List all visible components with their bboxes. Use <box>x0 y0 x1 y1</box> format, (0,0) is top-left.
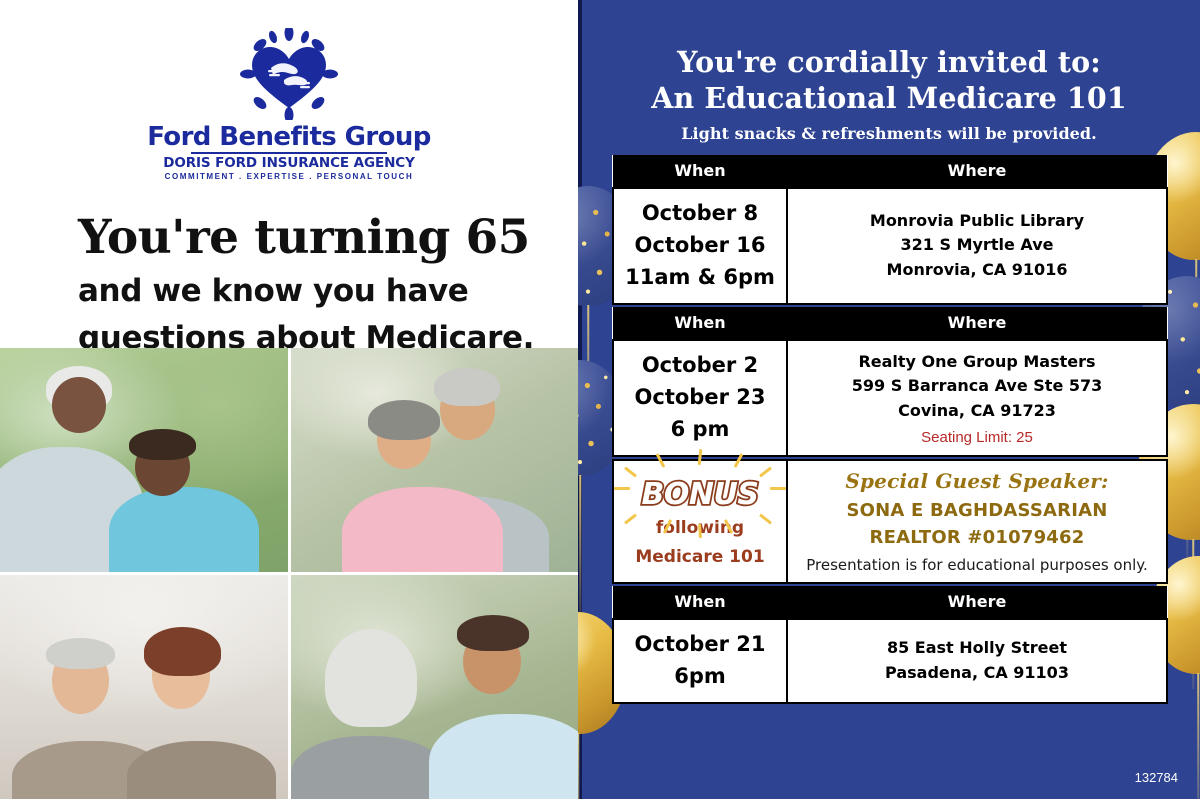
photo-mature-couple-3 <box>0 575 288 799</box>
table-header-row: When Where <box>613 586 1167 619</box>
bonus-block: BONUS following Medicare 101 Special Gue… <box>612 459 1168 584</box>
speaker-label: Special Guest Speaker: <box>794 469 1160 493</box>
bonus-label: BONUS <box>642 477 759 512</box>
where-line: Monrovia, CA 91016 <box>794 258 1160 283</box>
speaker-cell: Special Guest Speaker: SONA E BAGHDASSAR… <box>787 460 1167 583</box>
logo-company-name: Ford Benefits Group <box>147 124 431 150</box>
event-block-3: When Where October 21 6pm 85 East Holly … <box>612 586 1168 704</box>
event-when-cell: October 8 October 16 11am & 6pm <box>613 188 787 304</box>
when-line: 6pm <box>620 661 780 693</box>
event-where-cell: Realty One Group Masters 599 S Barranca … <box>787 340 1167 456</box>
where-line: 599 S Barranca Ave Ste 573 <box>794 374 1160 399</box>
logo-agency-name: DORIS FORD INSURANCE AGENCY <box>147 156 431 170</box>
heart-hands-burst-icon <box>224 28 354 120</box>
invite-line-1: You're cordially invited to: <box>612 44 1166 80</box>
event-where-cell: Monrovia Public Library 321 S Myrtle Ave… <box>787 188 1167 304</box>
column-header-where: Where <box>787 307 1167 340</box>
photo-collage <box>0 348 578 799</box>
speaker-license: REALTOR #01079462 <box>794 527 1160 548</box>
speaker-name: SONA E BAGHDASSARIAN <box>794 500 1160 521</box>
page-title: You're turning 65 and we know you have q… <box>0 212 578 359</box>
where-line: Monrovia Public Library <box>794 209 1160 234</box>
column-header-when: When <box>613 586 787 619</box>
right-panel: You're cordially invited to: An Educatio… <box>578 0 1200 799</box>
when-line: 11am & 6pm <box>620 262 780 294</box>
flyer-page: Ford Benefits Group DORIS FORD INSURANCE… <box>0 0 1200 799</box>
when-line: October 23 <box>620 382 780 414</box>
event-block-1: When Where October 8 October 16 11am & 6… <box>612 155 1168 305</box>
logo-tagline: COMMITMENT . EXPERTISE . PERSONAL TOUCH <box>147 172 431 181</box>
where-line: 321 S Myrtle Ave <box>794 233 1160 258</box>
invite-note: Light snacks & refreshments will be prov… <box>612 124 1166 143</box>
table-header-row: When Where <box>613 307 1167 340</box>
headline-primary: You're turning 65 <box>78 212 578 264</box>
where-line: Covina, CA 91723 <box>794 399 1160 424</box>
when-line: October 16 <box>620 230 780 262</box>
left-panel: Ford Benefits Group DORIS FORD INSURANCE… <box>0 0 578 799</box>
table-header-row: When Where <box>613 155 1167 188</box>
column-header-where: Where <box>787 586 1167 619</box>
speaker-disclaimer: Presentation is for educational purposes… <box>794 556 1160 574</box>
when-line: 6 pm <box>620 414 780 446</box>
when-line: October 21 <box>620 629 780 661</box>
column-header-where: Where <box>787 155 1167 188</box>
seating-limit-note: Seating Limit: 25 <box>794 429 1160 446</box>
column-header-when: When <box>613 307 787 340</box>
logo-wordmark: Ford Benefits Group DORIS FORD INSURANCE… <box>147 124 431 181</box>
reference-number: 132784 <box>1135 770 1178 785</box>
event-schedule: When Where October 8 October 16 11am & 6… <box>612 155 1168 704</box>
where-line: 85 East Holly Street <box>794 636 1160 661</box>
photo-senior-couple-2 <box>291 348 579 572</box>
headline-secondary-line1: and we know you have <box>78 272 578 312</box>
where-line: Realty One Group Masters <box>794 350 1160 375</box>
bonus-badge-cell: BONUS following Medicare 101 <box>613 460 787 583</box>
where-line: Pasadena, CA 91103 <box>794 661 1160 686</box>
logo-divider <box>191 152 387 154</box>
invite-line-2: An Educational Medicare 101 <box>612 80 1166 116</box>
table-row: October 8 October 16 11am & 6pm Monrovia… <box>613 188 1167 304</box>
event-when-cell: October 21 6pm <box>613 619 787 703</box>
table-row: October 21 6pm 85 East Holly Street Pasa… <box>613 619 1167 703</box>
bonus-badge: BONUS <box>642 473 759 512</box>
invitation-header: You're cordially invited to: An Educatio… <box>578 0 1200 143</box>
when-line: October 8 <box>620 198 780 230</box>
event-block-2: When Where October 2 October 23 6 pm Rea… <box>612 307 1168 457</box>
photo-senior-couple-4 <box>291 575 579 799</box>
event-when-cell: October 2 October 23 6 pm <box>613 340 787 456</box>
when-line: October 2 <box>620 350 780 382</box>
table-row: October 2 October 23 6 pm Realty One Gro… <box>613 340 1167 456</box>
event-where-cell: 85 East Holly Street Pasadena, CA 91103 <box>787 619 1167 703</box>
column-header-when: When <box>613 155 787 188</box>
bonus-sub-line-2: Medicare 101 <box>620 545 780 571</box>
photo-senior-couple-1 <box>0 348 288 572</box>
table-row: BONUS following Medicare 101 Special Gue… <box>613 460 1167 583</box>
